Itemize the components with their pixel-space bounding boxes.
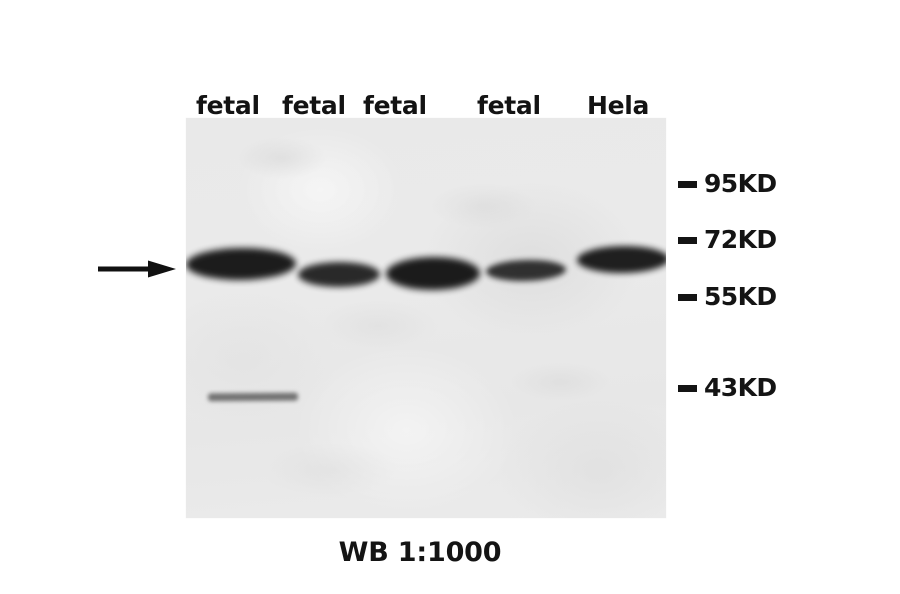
band-hela [577, 245, 666, 273]
band-fetal-lung [298, 262, 380, 287]
mw-marker-43kd: 43KD [678, 375, 777, 401]
mw-marker-55kd: 55KD [678, 284, 777, 310]
mw-dash-icon [678, 237, 697, 244]
western-blot-figure: fetal brain fetal lung fetal kidney feta… [0, 0, 900, 594]
figure-caption: WB 1:1000 [0, 536, 840, 570]
blot-membrane [186, 118, 666, 518]
mw-marker-label: 72KD [704, 227, 777, 253]
lane-label-line1: fetal [196, 91, 268, 121]
lane-label-line1: Hela [587, 91, 649, 121]
mw-dash-icon [678, 181, 697, 188]
band-fetal-brain [186, 247, 296, 280]
mw-dash-icon [678, 294, 697, 301]
lane-label-line1: fetal [363, 91, 455, 121]
mw-marker-label: 95KD [704, 171, 777, 197]
band-pointer-arrow [98, 260, 176, 278]
lane-label-line1: fetal [282, 91, 346, 121]
mw-marker-label: 55KD [704, 284, 777, 310]
mw-marker-label: 43KD [704, 375, 777, 401]
mw-dash-icon [678, 385, 697, 392]
band-fetal-brain-lower [208, 393, 298, 402]
lane-label-line1: fetal [477, 91, 574, 121]
band-fetal-muscle [486, 259, 567, 282]
mw-marker-95kd: 95KD [678, 171, 777, 197]
band-fetal-kidney [386, 257, 480, 291]
mw-marker-72kd: 72KD [678, 227, 777, 253]
